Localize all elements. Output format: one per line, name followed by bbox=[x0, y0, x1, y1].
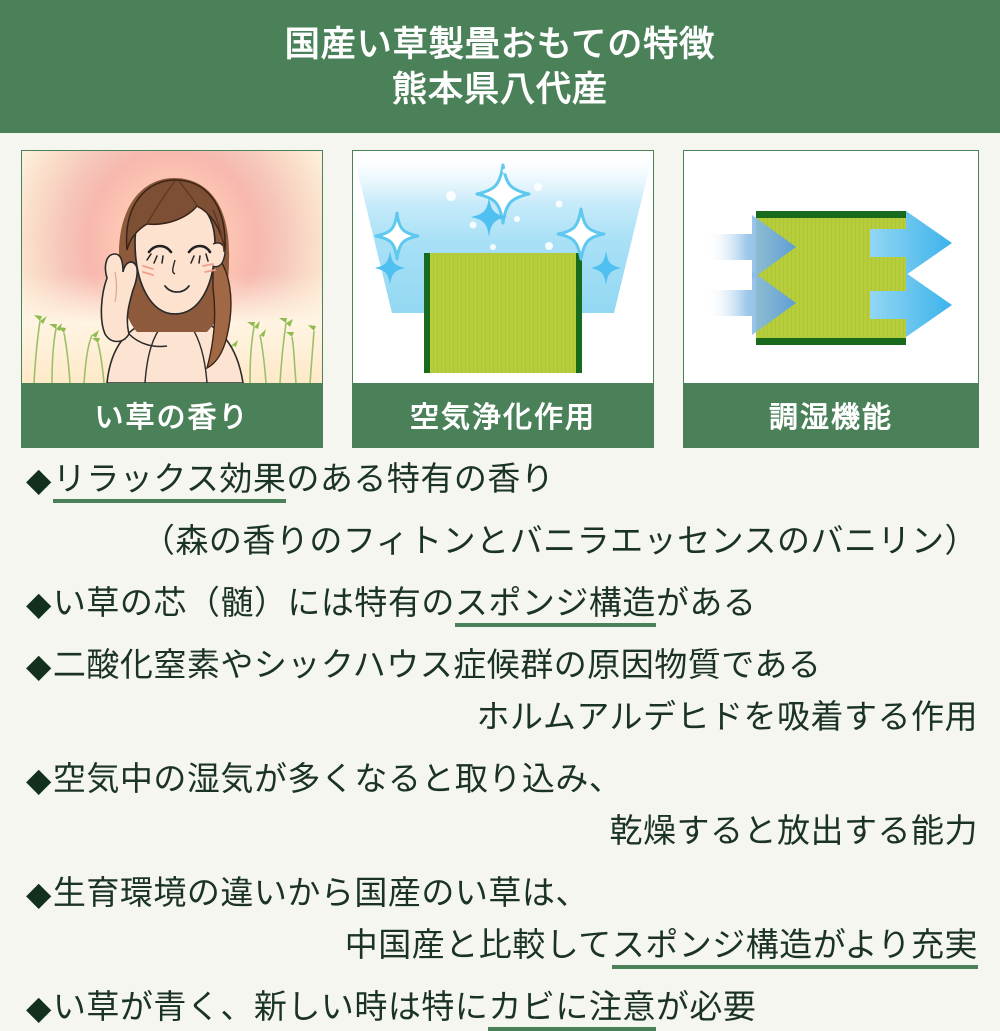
bullet-item-2: ◆い草の芯（髄）には特有のスポンジ構造がある bbox=[26, 586, 756, 619]
card-label-fragrance: い草の香り bbox=[22, 383, 322, 447]
bullet-1-highlight: リラックス効果 bbox=[53, 460, 287, 503]
bullet-3-text: 二酸化窒素やシックハウス症候群の原因物質である bbox=[53, 646, 822, 683]
bullet-6-highlight: カビに注意 bbox=[488, 988, 656, 1031]
card-label-humidity-control: 調湿機能 bbox=[684, 383, 978, 447]
bullet-marker: ◆ bbox=[26, 991, 52, 1024]
card-label-air-purification: 空気浄化作用 bbox=[353, 383, 653, 447]
bullet-2-highlight: スポンジ構造 bbox=[455, 584, 656, 627]
bullet-6-text-b: が必要 bbox=[656, 988, 757, 1025]
bullet-5-cont-text: 中国産と比較して bbox=[345, 926, 612, 963]
header-title-line-1: 国産い草製畳おもての特徴 bbox=[285, 23, 716, 68]
feature-card-fragrance: い草の香り bbox=[21, 150, 323, 448]
bullet-2-text-b: がある bbox=[656, 584, 757, 621]
humidity-control-icon bbox=[684, 151, 978, 383]
bullet-1-continuation: （森の香りのフィトンとバニラエッセンスのバニリン） bbox=[142, 524, 978, 557]
bullet-4-continuation: 乾燥すると放出する能力 bbox=[610, 814, 979, 847]
bullet-marker: ◆ bbox=[26, 587, 52, 620]
header-title-line-2: 熊本県八代産 bbox=[392, 68, 608, 113]
page-header: 国産い草製畳おもての特徴 熊本県八代産 bbox=[0, 0, 1000, 133]
bullet-marker: ◆ bbox=[26, 463, 52, 496]
bullet-5-continuation: 中国産と比較してスポンジ構造がより充実 bbox=[345, 928, 978, 961]
feature-card-humidity-control: 調湿機能 bbox=[683, 150, 979, 448]
bullet-item-4: ◆空気中の湿気が多くなると取り込み、 bbox=[26, 762, 622, 795]
woman-face-illustration bbox=[67, 168, 277, 383]
bullet-marker: ◆ bbox=[26, 649, 52, 682]
feature-card-row: い草の香り bbox=[0, 150, 1000, 450]
bullet-1-text: のある特有の香り bbox=[286, 460, 554, 497]
bullet-6-text-a: い草が青く、新しい時は特に bbox=[53, 988, 489, 1025]
bullet-3-continuation: ホルムアルデヒドを吸着する作用 bbox=[476, 700, 978, 733]
bullet-item-1: ◆リラックス効果のある特有の香り bbox=[26, 462, 554, 495]
bullet-5-highlight: スポンジ構造がより充実 bbox=[612, 926, 978, 969]
bullet-marker: ◆ bbox=[26, 877, 52, 910]
airflow-arrow-group bbox=[684, 151, 978, 383]
relaxed-woman-icon bbox=[22, 151, 322, 383]
bullet-marker: ◆ bbox=[26, 763, 52, 796]
bullet-4-text: 空気中の湿気が多くなると取り込み、 bbox=[53, 760, 623, 797]
feature-card-air-purification: 空気浄化作用 bbox=[352, 150, 654, 448]
bullet-2-text-a: い草の芯（髄）には特有の bbox=[53, 584, 455, 621]
bullet-item-6: ◆い草が青く、新しい時は特にカビに注意が必要 bbox=[26, 990, 756, 1023]
bullet-5-text: 生育環境の違いから国産のい草は、 bbox=[53, 874, 589, 911]
sparkle-icon-group bbox=[353, 151, 653, 383]
bullet-item-3: ◆二酸化窒素やシックハウス症候群の原因物質である bbox=[26, 648, 821, 681]
bullet-item-5: ◆生育環境の違いから国産のい草は、 bbox=[26, 876, 589, 909]
air-purification-icon bbox=[353, 151, 653, 383]
